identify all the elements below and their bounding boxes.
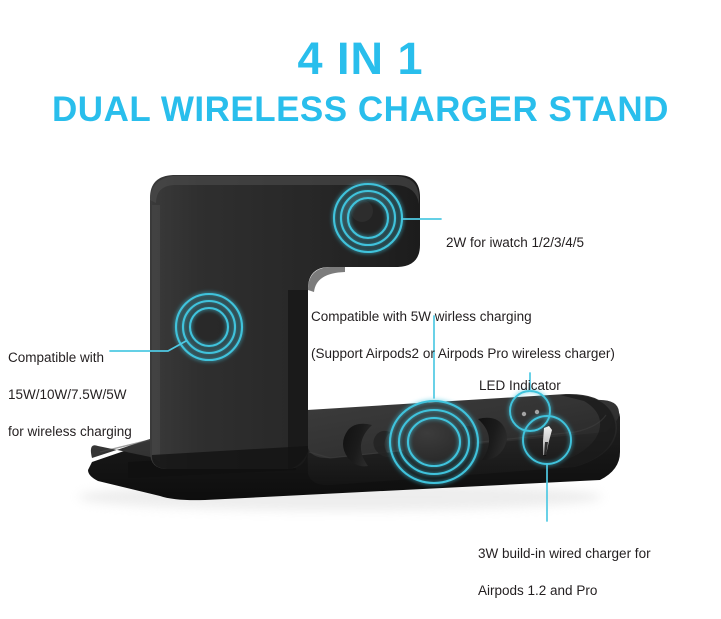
- callout-wired-line2: Airpods 1.2 and Pro: [478, 582, 651, 601]
- airpods-deck: [307, 394, 617, 485]
- product-shadow: [78, 483, 602, 511]
- crescent-left: [343, 424, 372, 467]
- callout-wired-charger: 3W build-in wired charger for Airpods 1.…: [478, 526, 651, 619]
- phone-pad-rings: [176, 294, 242, 360]
- watch-puck-gloss: [351, 200, 373, 222]
- base-highlight: [100, 401, 596, 452]
- airpods-pad-surface: [400, 420, 468, 464]
- base-bottom-edge: [88, 404, 620, 500]
- watch-pad-rings: [334, 184, 402, 252]
- connector-highlight-circle: [523, 416, 571, 464]
- callout-phone-wireless: Compatible with 15W/10W/7.5W/5W for wire…: [8, 330, 132, 460]
- callout-phone-line2: 15W/10W/7.5W/5W: [8, 386, 132, 405]
- lightning-connector: [523, 416, 571, 464]
- airpods-charging-pad: [390, 401, 478, 483]
- stand-right-shade: [288, 290, 308, 469]
- deck-top-face: [307, 394, 612, 458]
- connector-base: [544, 442, 548, 456]
- headline-block: 4 IN 1 DUAL WIRELESS CHARGER STAND: [0, 34, 721, 132]
- led-dot-1: [522, 412, 526, 416]
- page-subtitle: DUAL WIRELESS CHARGER STAND: [0, 88, 721, 132]
- base-top-surface: [91, 400, 619, 463]
- watch-charging-pad: [334, 184, 402, 252]
- led-dot-2: [535, 410, 539, 414]
- airpods-cradle-recesses: [343, 418, 507, 467]
- watch-puck: [340, 190, 396, 246]
- callout-phone-line3: for wireless charging: [8, 423, 132, 442]
- callout-led-indicator: LED Indicator: [479, 358, 561, 395]
- stand-foot: [128, 452, 296, 478]
- stand-top-highlight: [150, 176, 419, 204]
- crescent-right: [478, 418, 507, 460]
- callout-watch-text: 2W for iwatch 1/2/3/4/5: [446, 235, 584, 250]
- connector-pin: [543, 426, 552, 455]
- watch-puck-inner: [349, 199, 387, 237]
- callout-phone-line1: Compatible with: [8, 349, 132, 368]
- crescent-right-inner: [461, 426, 478, 452]
- deck-right-cap: [556, 395, 616, 467]
- led-indicator: [510, 391, 550, 431]
- deck-body: [307, 396, 617, 485]
- deck-bevel: [309, 415, 606, 458]
- stand-left-highlight: [152, 205, 160, 462]
- callout-airpods-wireless: Compatible with 5W wirless charging (Sup…: [311, 289, 615, 382]
- phone-charging-pad: [176, 294, 242, 360]
- airpods-pad-rings: [390, 401, 478, 483]
- callout-airpods-line2: (Support Airpods2 or Airpods Pro wireles…: [311, 345, 615, 364]
- callout-wired-line1: 3W build-in wired charger for: [478, 545, 651, 564]
- infographic-canvas: 4 IN 1 DUAL WIRELESS CHARGER STAND: [0, 0, 721, 613]
- callout-led-text: LED Indicator: [479, 378, 561, 393]
- crescent-left-inner: [373, 431, 390, 457]
- callout-watch: 2W for iwatch 1/2/3/4/5: [446, 215, 584, 252]
- phone-pad-surface: [187, 305, 231, 349]
- led-highlight-circle: [510, 391, 550, 431]
- base-platform: [88, 400, 620, 500]
- callout-airpods-line1: Compatible with 5W wirless charging: [311, 308, 615, 327]
- page-title: 4 IN 1: [0, 34, 721, 84]
- stand-bottom-shade: [152, 446, 308, 469]
